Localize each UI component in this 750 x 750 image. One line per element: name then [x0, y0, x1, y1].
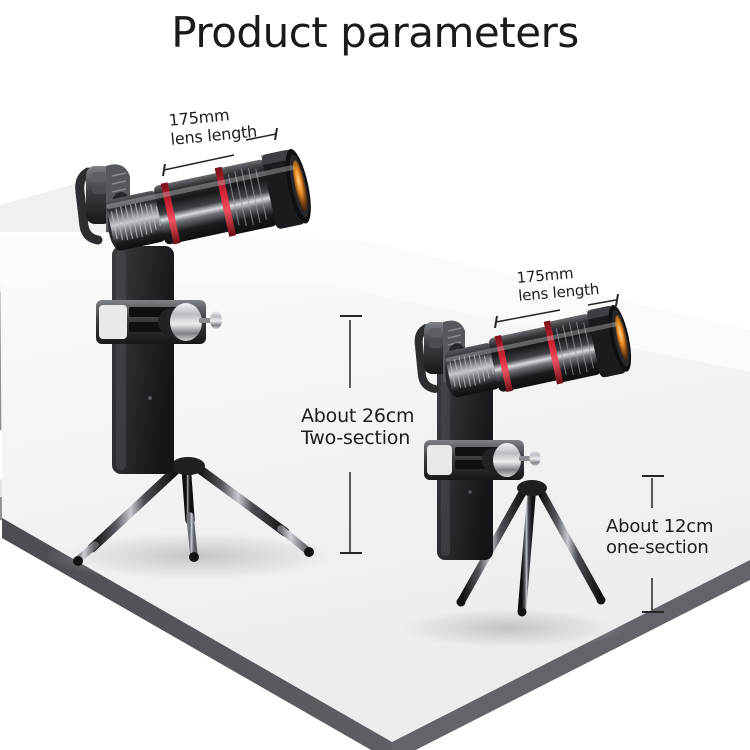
phone-clip-mount-right: [424, 440, 541, 480]
annotation-height-right: About 12cm one-section: [606, 516, 713, 558]
annotation-line-1: About 12cm: [606, 516, 713, 537]
annotation-lens-length-right: 175mm lens length: [516, 263, 600, 305]
annotation-line-1: About 26cm: [301, 405, 414, 427]
annotation-height-left: About 26cm Two-section: [301, 405, 414, 450]
product-image-canvas: Product parameters 175mm lens length 175…: [0, 0, 750, 750]
annotation-line-2: Two-section: [301, 427, 414, 449]
product-scene: [0, 0, 750, 750]
phone-clip-mount-left: [96, 300, 222, 344]
phone-left: [112, 246, 174, 474]
shadow-right: [390, 606, 626, 650]
page-title: Product parameters: [0, 8, 750, 57]
annotation-line-2: one-section: [606, 537, 713, 558]
